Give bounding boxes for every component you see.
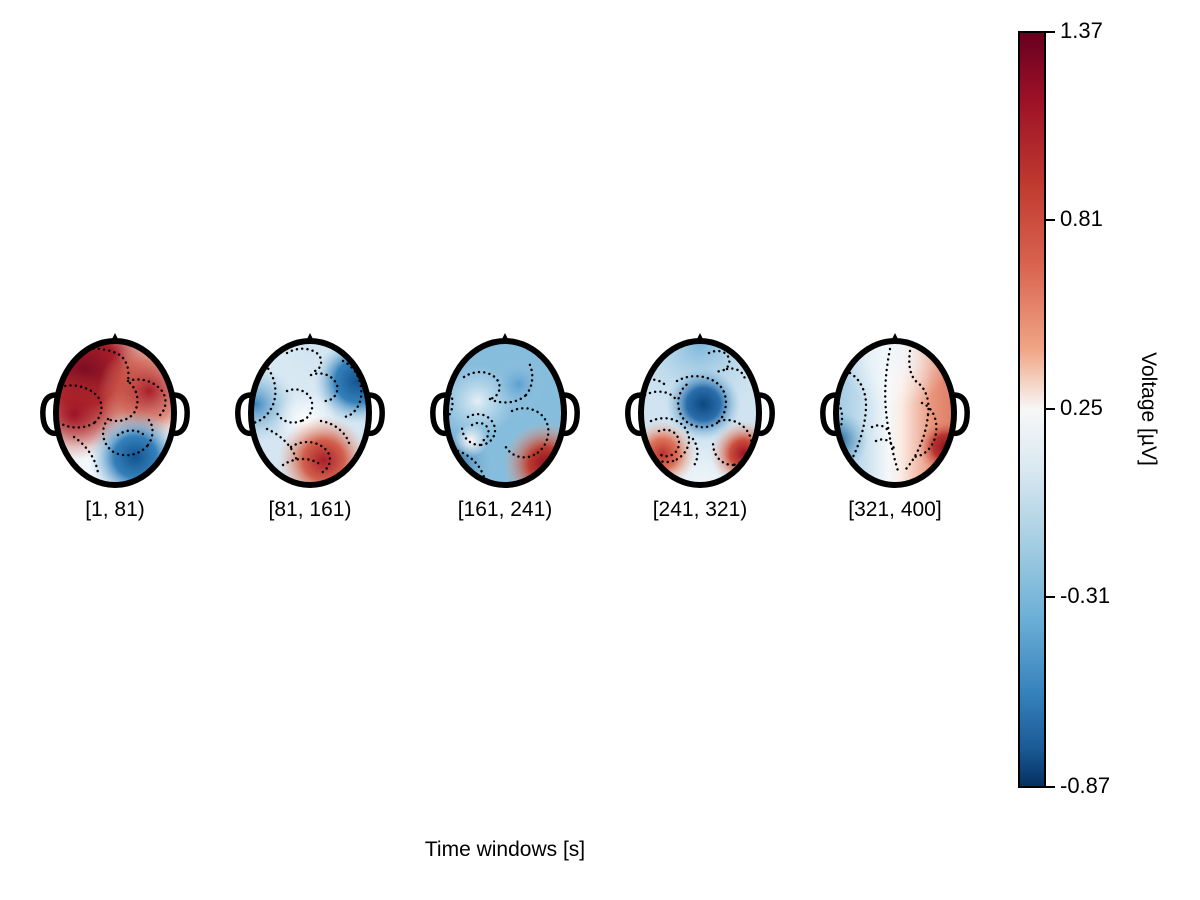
- topoplot-panel-3[interactable]: [420, 325, 590, 490]
- colorbar-tick-label-3: 0.25: [1060, 395, 1103, 421]
- colorbar-tick-mark-3: [1046, 408, 1055, 410]
- colorbar[interactable]: 1.37 0.81 0.25 -0.31 -0.87: [1018, 31, 1046, 788]
- colorbar-gradient: [1018, 31, 1046, 788]
- colorbar-tick-mark-2: [1046, 219, 1055, 221]
- colorbar-tick-mark-5: [1046, 786, 1055, 788]
- topoplot-panel-1[interactable]: [30, 325, 200, 490]
- topoplot-row: [0, 325, 1000, 490]
- topoplot-panel-5[interactable]: [810, 325, 980, 490]
- colorbar-tick-label-5: -0.87: [1060, 773, 1110, 799]
- time-window-label-2: [81, 161): [200, 498, 420, 522]
- colorbar-tick-label-1: 1.37: [1060, 18, 1103, 44]
- time-window-label-4: [241, 321): [590, 498, 810, 522]
- x-axis-title: Time windows [s]: [0, 838, 1010, 862]
- time-window-label-3: [161, 241): [395, 498, 615, 522]
- colorbar-tick-mark-1: [1046, 31, 1055, 33]
- colorbar-tick-label-4: -0.31: [1060, 583, 1110, 609]
- colorbar-tick-mark-4: [1046, 596, 1055, 598]
- time-window-label-5: [321, 400]: [785, 498, 1005, 522]
- colorbar-axis-title: Voltage [µV]: [1136, 352, 1160, 466]
- topoplot-panel-2[interactable]: [225, 325, 395, 490]
- topoplot-panel-4[interactable]: [615, 325, 785, 490]
- colorbar-tick-label-2: 0.81: [1060, 206, 1103, 232]
- eeg-topomap-figure: [1, 81) [81, 161) [161, 241) [241, 321) …: [0, 0, 1200, 900]
- time-window-label-1: [1, 81): [5, 498, 225, 522]
- time-window-labels: [1, 81) [81, 161) [161, 241) [241, 321) …: [0, 498, 1000, 528]
